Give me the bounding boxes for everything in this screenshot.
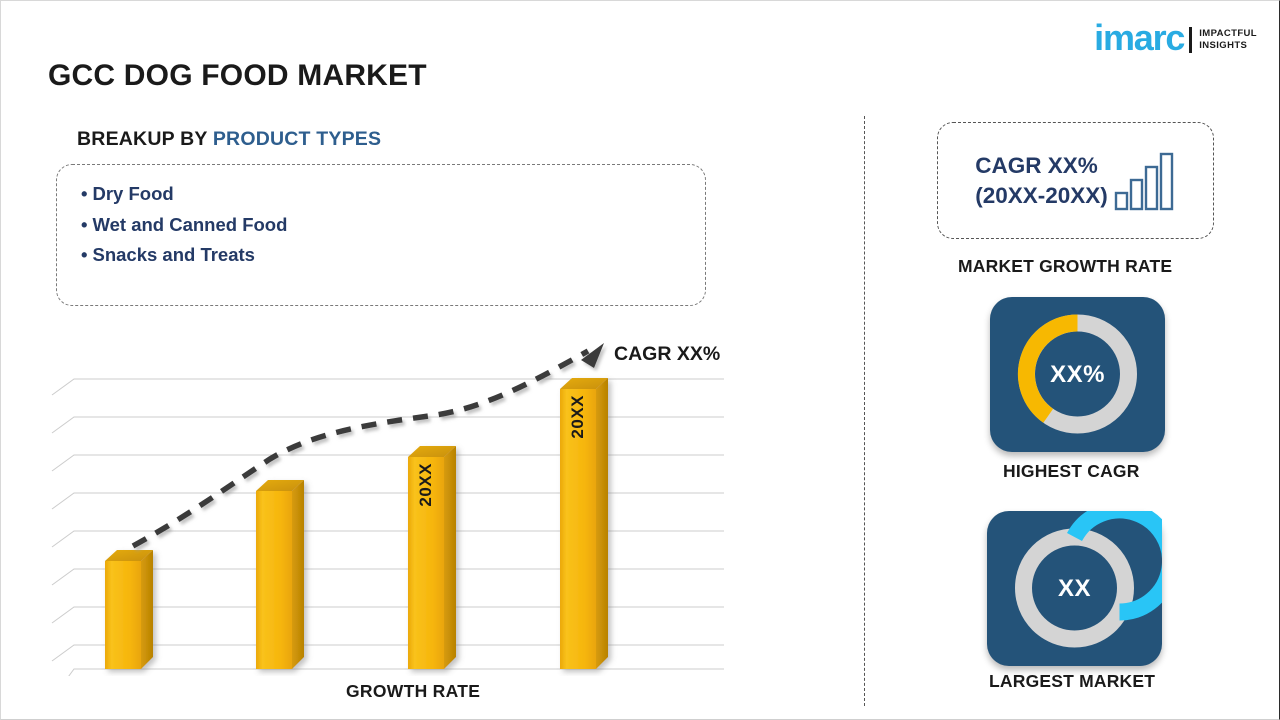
- largest-market-value: XX: [987, 511, 1162, 666]
- market-growth-rate-box: CAGR XX% (20XX-20XX): [937, 122, 1214, 239]
- highest-cagr-card: XX%: [990, 297, 1165, 452]
- chart-svg: [48, 331, 748, 676]
- list-item-label: Snacks and Treats: [92, 244, 254, 265]
- trendline-arrow: [133, 343, 604, 546]
- list-item: •Snacks and Treats: [81, 240, 681, 271]
- highest-cagr-caption-text: HIGHEST CAGR: [1003, 461, 1140, 482]
- infographic-page: imarc IMPACTFUL INSIGHTS GCC DOG FOOD MA…: [0, 0, 1280, 720]
- logo-divider-bar: [1189, 27, 1192, 53]
- bar-2: [256, 480, 304, 669]
- cagr-annotation: CAGR XX%: [614, 343, 720, 366]
- page-title: GCC DOG FOOD MARKET: [48, 59, 427, 93]
- bar-chart-icon: [1114, 151, 1176, 211]
- bar-3-label: 20XX: [416, 463, 436, 507]
- vertical-divider: [864, 116, 865, 706]
- logo-tagline-line1: IMPACTFUL: [1199, 28, 1257, 40]
- section-heading-prefix: BREAKUP BY: [77, 128, 213, 150]
- section-heading: BREAKUP BY PRODUCT TYPES: [77, 128, 381, 151]
- logo-tagline: IMPACTFUL INSIGHTS: [1199, 28, 1257, 55]
- cagr-text: CAGR XX% (20XX-20XX): [975, 151, 1108, 211]
- list-item: •Wet and Canned Food: [81, 210, 681, 241]
- list-item-label: Wet and Canned Food: [92, 214, 287, 235]
- bullet-icon: •: [81, 183, 87, 204]
- chart-x-axis-label: GROWTH RATE: [346, 681, 480, 702]
- highest-cagr-value: XX%: [990, 297, 1165, 452]
- product-types-list: •Dry Food •Wet and Canned Food •Snacks a…: [81, 179, 681, 271]
- imarc-logo: imarc IMPACTFUL INSIGHTS: [1094, 15, 1257, 55]
- market-growth-rate-caption-text: MARKET GROWTH RATE: [958, 256, 1172, 277]
- bar-1: [105, 550, 153, 669]
- bullet-icon: •: [81, 244, 87, 265]
- bar-4-label: 20XX: [568, 395, 588, 439]
- bullet-icon: •: [81, 214, 87, 235]
- logo-wordmark: imarc: [1094, 21, 1184, 55]
- cagr-value: CAGR XX%: [975, 151, 1108, 181]
- cagr-period: (20XX-20XX): [975, 181, 1108, 211]
- largest-market-caption-text: LARGEST MARKET: [989, 671, 1155, 692]
- growth-rate-chart: 20XX 20XX CAGR XX% GROWTH RATE: [48, 331, 748, 720]
- logo-tagline-line2: INSIGHTS: [1199, 40, 1257, 52]
- largest-market-card: XX: [987, 511, 1162, 666]
- list-item-label: Dry Food: [92, 183, 173, 204]
- product-types-box: •Dry Food •Wet and Canned Food •Snacks a…: [56, 164, 706, 306]
- list-item: •Dry Food: [81, 179, 681, 210]
- section-heading-accent: PRODUCT TYPES: [213, 128, 381, 150]
